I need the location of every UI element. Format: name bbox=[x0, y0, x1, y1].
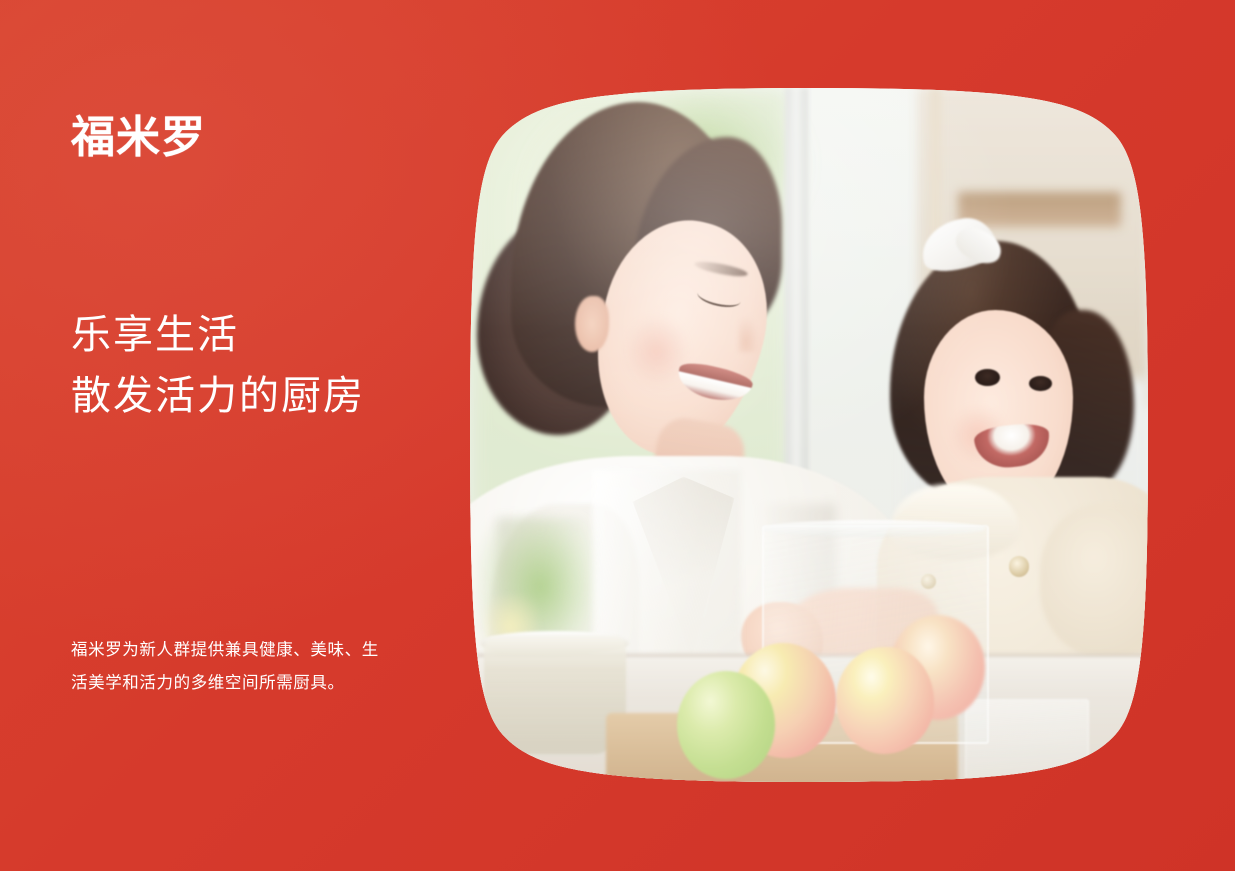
window-mullion bbox=[785, 88, 808, 477]
mesh-basket-icon bbox=[484, 636, 626, 754]
mother-nose bbox=[738, 317, 758, 352]
body-paragraph: 福米罗为新人群提供兼具健康、美味、生活美学和活力的多维空间所需厨具。 bbox=[71, 634, 383, 702]
hero-photo-squircle-mask bbox=[470, 88, 1148, 782]
cabinet-shelf bbox=[958, 192, 1121, 227]
child-eye-left bbox=[975, 369, 999, 386]
child-eye-right bbox=[1029, 376, 1051, 391]
page-title: 乐享生活 散发活力的厨房 bbox=[71, 305, 365, 427]
brand-banner: 福米罗 乐享生活 散发活力的厨房 福米罗为新人群提供兼具健康、美味、生活美学和活… bbox=[0, 0, 1235, 871]
green-apple-icon bbox=[677, 671, 775, 779]
brand-logo: 福米罗 bbox=[71, 116, 206, 160]
headline-line-2: 散发活力的厨房 bbox=[71, 366, 365, 427]
peach-icon-2 bbox=[836, 647, 934, 755]
left-content-column: 福米罗 乐享生活 散发活力的厨房 福米罗为新人群提供兼具健康、美味、生活美学和活… bbox=[0, 0, 470, 871]
headline-line-1: 乐享生活 bbox=[71, 305, 365, 366]
hero-photo-frame bbox=[470, 88, 1148, 782]
child-dress-button bbox=[1009, 556, 1029, 576]
mother-ear bbox=[575, 296, 609, 352]
child-dress-sleeve bbox=[1040, 504, 1148, 657]
mother-cheek bbox=[626, 317, 687, 386]
hero-photo bbox=[470, 88, 1148, 782]
glass-tray-icon bbox=[965, 699, 1089, 782]
